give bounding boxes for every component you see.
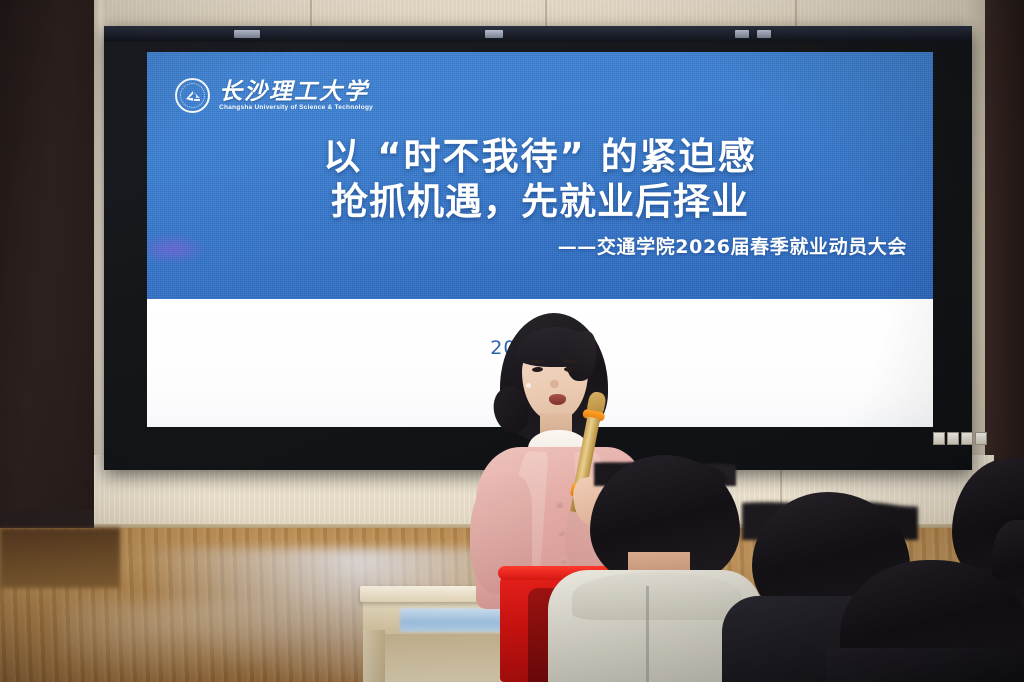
- logo-name-en: Changsha University of Science & Technol…: [219, 104, 373, 111]
- screen-control-button[interactable]: [961, 432, 973, 445]
- slide-title-line2: 抢抓机遇，先就业后择业: [147, 179, 933, 224]
- audience-member-shoulders: [826, 648, 1024, 682]
- university-seal-icon: [175, 78, 210, 113]
- speaker-cardigan-button: [556, 501, 563, 508]
- slide-subtitle: ——交通学院2026届春季就业动员大会: [167, 232, 907, 259]
- bezel-highlight: [234, 30, 260, 38]
- speaker-earring: [526, 383, 531, 388]
- floor-shadow-left: [0, 528, 120, 588]
- logo-name-cn: 长沙理工大学: [219, 80, 373, 103]
- speaker-cardigan-button: [558, 529, 565, 536]
- slide-title: 以 “时不我待” 的紧迫感 抢抓机遇，先就业后择业: [147, 134, 933, 224]
- speaker-nose: [550, 380, 559, 388]
- bezel-highlight: [735, 30, 749, 38]
- speaker-bangs-sweep: [566, 331, 596, 381]
- audience-member-hood: [572, 572, 742, 620]
- hoodie-seam: [646, 586, 649, 682]
- screen-control-button[interactable]: [975, 432, 987, 445]
- screen-control-button[interactable]: [947, 432, 959, 445]
- university-logo: 长沙理工大学 Changsha University of Science & …: [175, 78, 373, 113]
- bezel-highlight: [757, 30, 771, 38]
- slide-title-line1: 以 “时不我待” 的紧迫感: [323, 135, 756, 178]
- bezel-highlight: [485, 30, 503, 38]
- screen-control-button[interactable]: [933, 432, 945, 445]
- lecture-hall-photo: 长沙理工大学 Changsha University of Science & …: [0, 0, 1024, 682]
- speaker-cardigan-button: [560, 557, 567, 564]
- speaker-mouth: [549, 394, 566, 405]
- desk-leg: [363, 630, 385, 682]
- left-dark-wall-panel: [0, 0, 94, 510]
- floor-light-reflection: [60, 600, 320, 682]
- screen-control-buttons[interactable]: [933, 432, 987, 445]
